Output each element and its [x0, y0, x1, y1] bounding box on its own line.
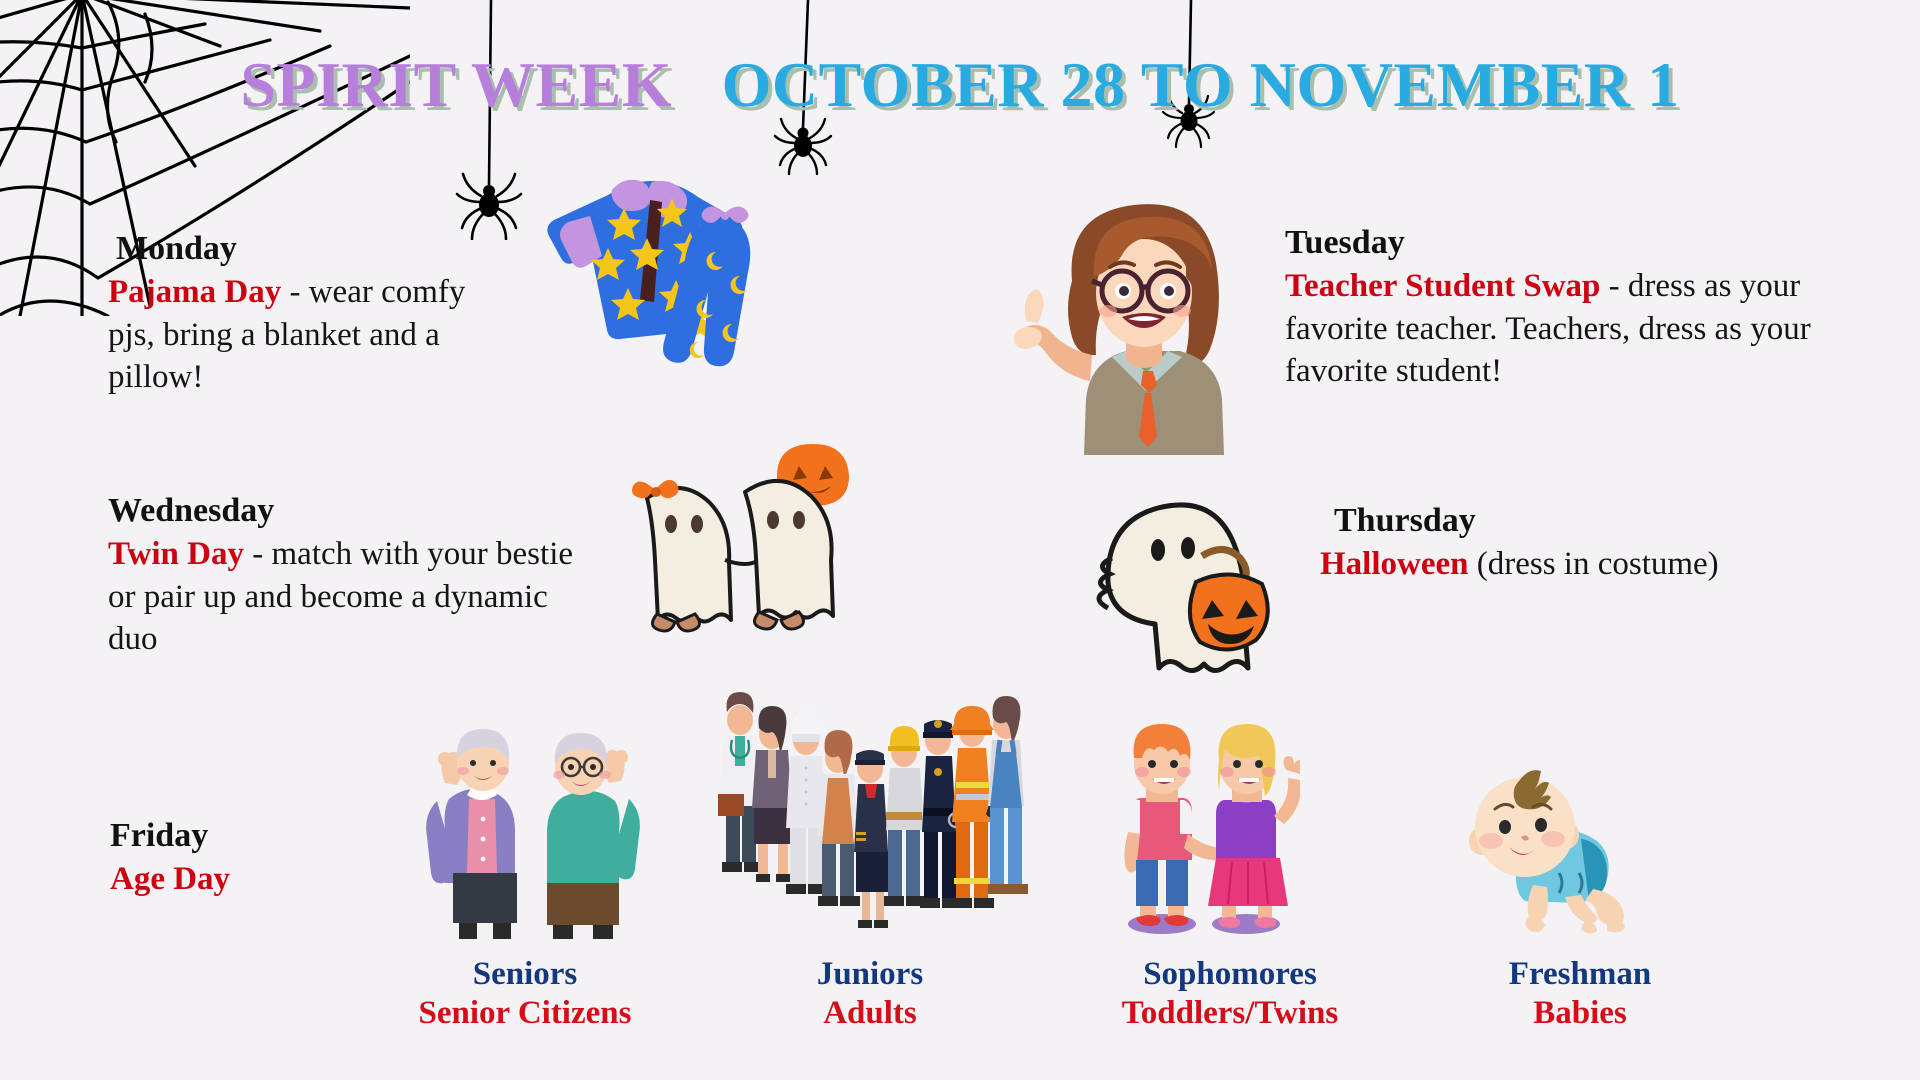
day-name-monday: Monday [108, 228, 508, 269]
day-name-friday: Friday [110, 815, 440, 856]
event-name-friday: Age Day [110, 861, 230, 897]
title-date-range: OCTOBER 28 TO NOVEMBER 1 [722, 49, 1680, 120]
day-description-wednesday: Twin Day - match with your bestie or pai… [108, 533, 598, 660]
event-name-wednesday: Twin Day [108, 536, 244, 572]
day-block-monday: Monday Pajama Day - wear comfy pjs, brin… [108, 228, 508, 398]
caption-juniors: Juniors Adults [720, 955, 1020, 1033]
caption-freshman: Freshman Babies [1430, 955, 1730, 1033]
day-block-friday: Friday Age Day [110, 815, 440, 901]
day-description-friday: Age Day [110, 858, 440, 900]
pajamas-illustration [500, 160, 800, 410]
ghost-with-pumpkin-illustration [1090, 490, 1300, 680]
title-spirit-week: SPIRIT WEEK [240, 49, 672, 120]
costume-label-seniors: Senior Citizens [375, 994, 675, 1033]
dash-thursday [1468, 546, 1476, 582]
teacher-illustration [1010, 185, 1280, 455]
class-label-freshman: Freshman [1430, 955, 1730, 994]
costume-label-sophomores: Toddlers/Twins [1080, 994, 1380, 1033]
costume-label-juniors: Adults [720, 994, 1020, 1033]
event-name-monday: Pajama Day [108, 274, 281, 310]
day-block-wednesday: Wednesday Twin Day - match with your bes… [108, 490, 598, 660]
spirit-week-poster: SPIRIT WEEK OCTOBER 28 TO NOVEMBER 1 Mon… [0, 0, 1920, 1080]
toddlers-illustration [1110, 720, 1300, 940]
senior-citizens-illustration [415, 715, 650, 945]
event-name-tuesday: Teacher Student Swap [1285, 268, 1600, 304]
baby-illustration [1455, 765, 1635, 940]
day-name-wednesday: Wednesday [108, 490, 598, 531]
day-name-tuesday: Tuesday [1285, 222, 1885, 263]
caption-sophomores: Sophomores Toddlers/Twins [1080, 955, 1380, 1033]
class-label-seniors: Seniors [375, 955, 675, 994]
day-description-tuesday: Teacher Student Swap - dress as your fav… [1285, 265, 1885, 392]
day-text-thursday: (dress in costume) [1477, 546, 1719, 582]
event-name-thursday: Halloween [1320, 546, 1468, 582]
adults-group-illustration [710, 690, 1030, 945]
twin-ghosts-illustration [585, 440, 875, 670]
poster-title: SPIRIT WEEK OCTOBER 28 TO NOVEMBER 1 [0, 48, 1920, 122]
dash-wednesday: - [244, 536, 272, 572]
dash-tuesday: - [1600, 268, 1628, 304]
day-description-thursday: Halloween (dress in costume) [1320, 543, 1920, 585]
class-label-sophomores: Sophomores [1080, 955, 1380, 994]
dash-monday: - [281, 274, 309, 310]
day-block-thursday: Thursday Halloween (dress in costume) [1320, 500, 1920, 586]
day-description-monday: Pajama Day - wear comfy pjs, bring a bla… [108, 271, 508, 398]
day-block-tuesday: Tuesday Teacher Student Swap - dress as … [1285, 222, 1885, 392]
costume-label-freshman: Babies [1430, 994, 1730, 1033]
day-name-thursday: Thursday [1320, 500, 1920, 541]
caption-seniors: Seniors Senior Citizens [375, 955, 675, 1033]
class-label-juniors: Juniors [720, 955, 1020, 994]
